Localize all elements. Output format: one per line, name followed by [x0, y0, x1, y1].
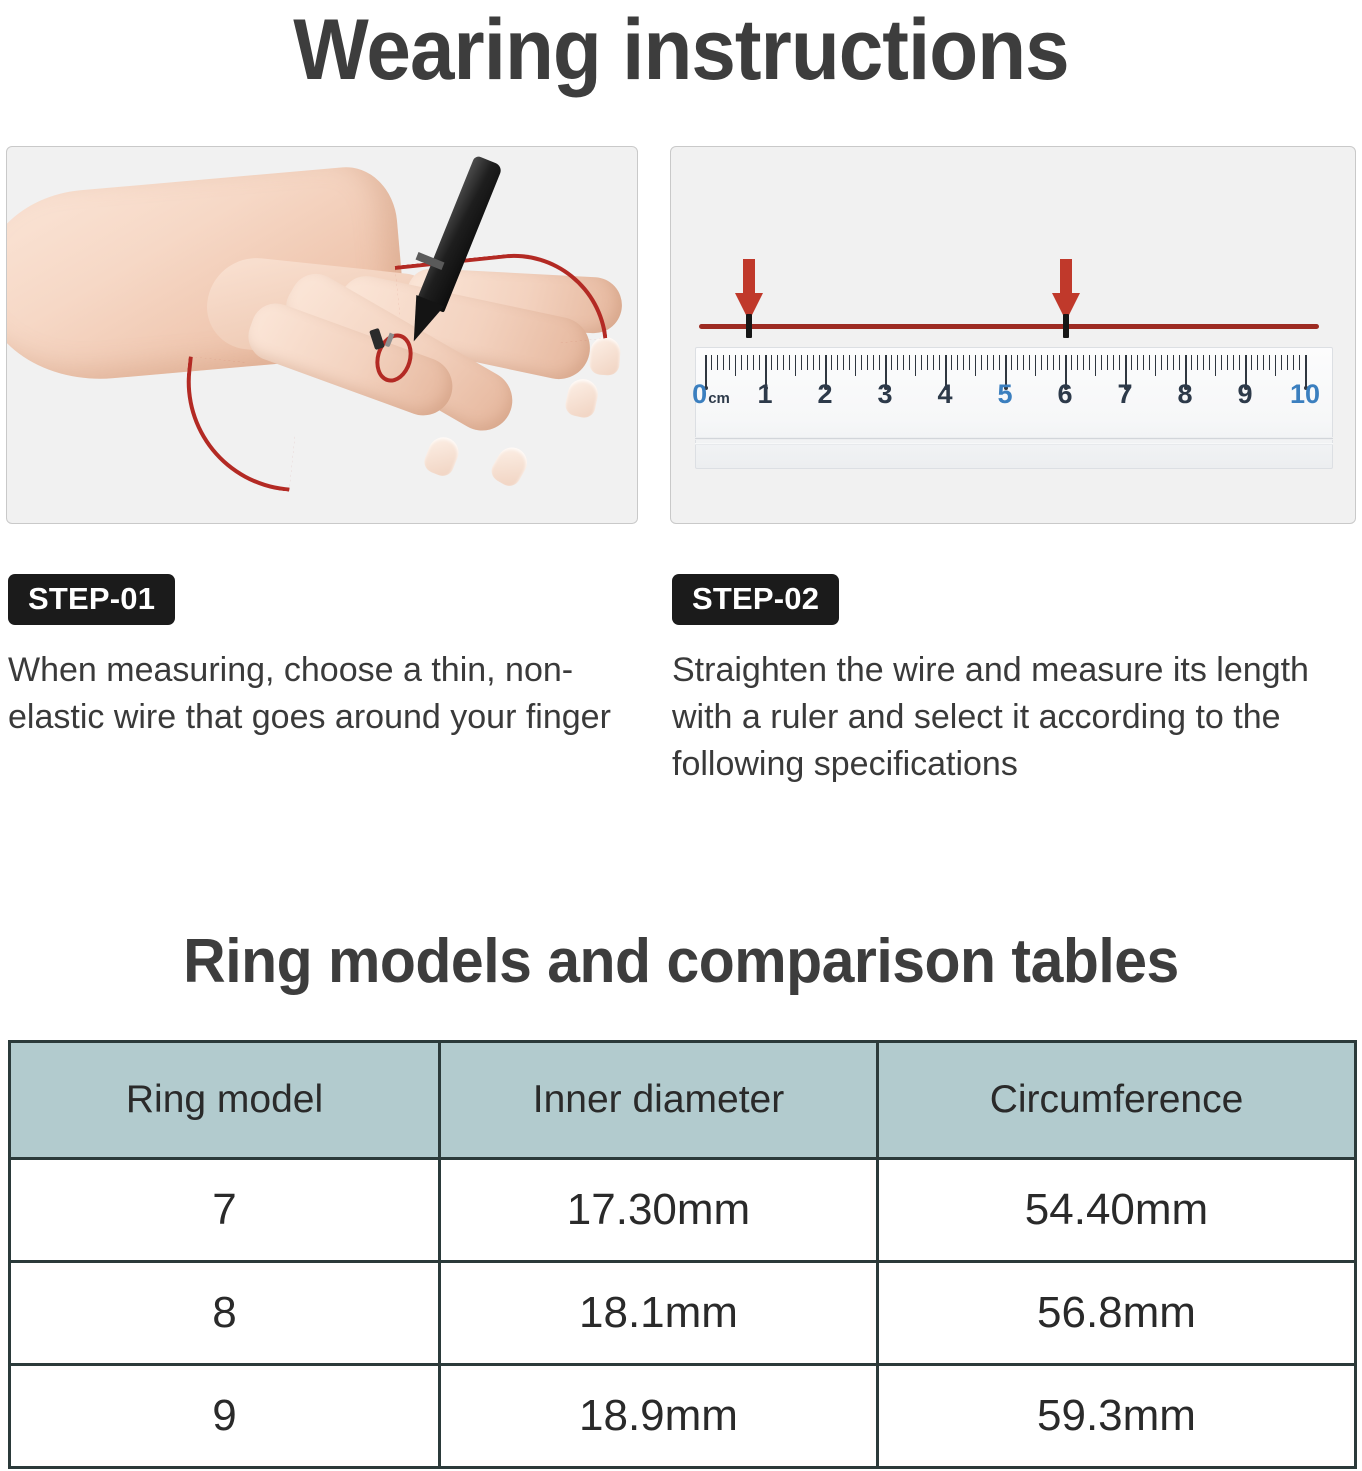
ruler-unit-label: cm	[708, 390, 730, 407]
page-title: Wearing instructions	[48, 0, 1315, 102]
cell-inner-diameter: 18.9mm	[440, 1365, 878, 1468]
fingernail	[589, 336, 622, 376]
cell-ring-model: 9	[10, 1365, 440, 1468]
ruler-label-1: 1	[757, 379, 772, 410]
down-arrow-icon	[735, 259, 763, 321]
ruler-label-6: 6	[1057, 379, 1072, 410]
cell-inner-diameter: 17.30mm	[440, 1159, 878, 1262]
ruler-bevel-edge	[695, 437, 1333, 440]
column-header-ring-model: Ring model	[10, 1042, 440, 1159]
wire-end-mark	[1063, 314, 1069, 338]
wire-on-ruler-illustration: 0cm12345678910	[671, 147, 1355, 523]
down-arrow-icon	[1052, 259, 1080, 321]
hand-with-wire-illustration	[7, 147, 637, 523]
ruler-bevel-edge	[695, 443, 1333, 445]
step-2-image-panel: 0cm12345678910	[670, 146, 1356, 524]
cell-circumference: 54.40mm	[878, 1159, 1356, 1262]
wire-tail-lower	[176, 356, 302, 491]
ruler-label-2: 2	[817, 379, 832, 410]
cell-inner-diameter: 18.1mm	[440, 1262, 878, 1365]
cell-circumference: 59.3mm	[878, 1365, 1356, 1468]
straightened-wire	[699, 324, 1319, 329]
ring-size-comparison-table: Ring model Inner diameter Circumference …	[8, 1040, 1357, 1469]
column-header-circumference: Circumference	[878, 1042, 1356, 1159]
ruler-label-10: 10	[1290, 379, 1320, 410]
cell-circumference: 56.8mm	[878, 1262, 1356, 1365]
ruler-label-8: 8	[1177, 379, 1192, 410]
step-2-badge: STEP-02	[672, 574, 839, 625]
step-1-block: STEP-01 When measuring, choose a thin, n…	[8, 574, 628, 741]
cell-ring-model: 8	[10, 1262, 440, 1365]
ruler-label-0: 0cm	[692, 379, 730, 410]
table-row: 918.9mm59.3mm	[10, 1365, 1356, 1468]
step-1-description: When measuring, choose a thin, non-elast…	[8, 647, 628, 741]
step-2-description: Straighten the wire and measure its leng…	[672, 647, 1362, 788]
ruler-label-9: 9	[1237, 379, 1252, 410]
ruler-label-3: 3	[877, 379, 892, 410]
column-header-inner-diameter: Inner diameter	[440, 1042, 878, 1159]
ruler-label-5: 5	[997, 379, 1012, 410]
fingernail	[563, 376, 600, 419]
table-row: 818.1mm56.8mm	[10, 1262, 1356, 1365]
fingernail	[421, 433, 463, 479]
fingernail	[488, 442, 533, 490]
ruler-label-4: 4	[937, 379, 952, 410]
step-1-badge: STEP-01	[8, 574, 175, 625]
section-title: Ring models and comparison tables	[34, 912, 1328, 1012]
wire-end-mark	[746, 314, 752, 338]
table-row: 717.30mm54.40mm	[10, 1159, 1356, 1262]
ruler-label-7: 7	[1117, 379, 1132, 410]
cell-ring-model: 7	[10, 1159, 440, 1262]
step-1-image-panel	[6, 146, 638, 524]
table-header-row: Ring model Inner diameter Circumference	[10, 1042, 1356, 1159]
step-2-block: STEP-02 Straighten the wire and measure …	[672, 574, 1362, 788]
